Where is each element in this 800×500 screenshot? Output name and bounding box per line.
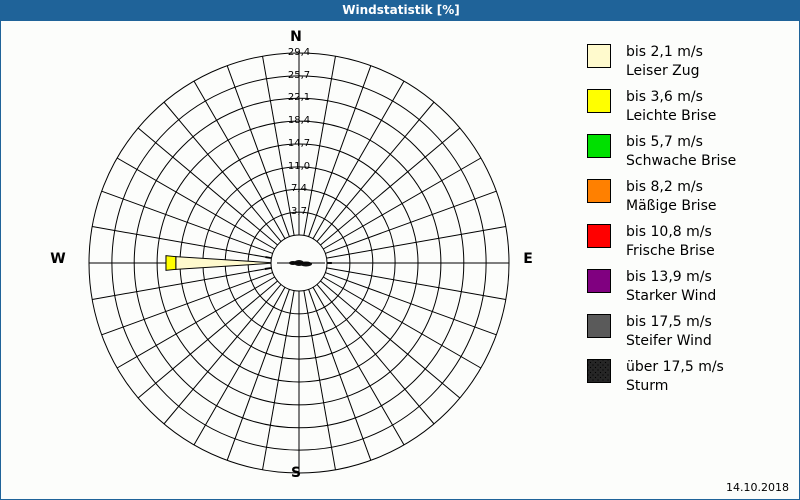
radial-tick-label: 18,4	[279, 115, 319, 126]
legend-name-label: Mäßige Brise	[626, 197, 716, 216]
legend-name-label: Steifer Wind	[626, 332, 712, 351]
radial-tick-label: 7,4	[279, 183, 319, 194]
radial-tick-label: 3,7	[279, 206, 319, 217]
windrose-calm-marker	[300, 262, 312, 267]
legend-swatch-schwache-brise	[587, 134, 611, 158]
windrose-plot: N S W E 3,77,411,014,718,422,125,729,4	[1, 21, 571, 498]
legend-item[interactable]: bis 8,2 m/sMäßige Brise	[587, 178, 797, 223]
legend-name-label: Schwache Brise	[626, 152, 736, 171]
windrose-petal-segment	[266, 257, 272, 259]
legend-swatch-frische-brise	[587, 224, 611, 248]
legend-item[interactable]: bis 13,9 m/sStarker Wind	[587, 268, 797, 313]
windrose-petal-segment	[265, 268, 271, 270]
legend-swatch-leichte-brise	[587, 89, 611, 113]
radial-tick-label: 14,7	[279, 138, 319, 149]
windstatistik-window: Windstatistik [%] N S W E 3,77,411,014,7…	[0, 0, 800, 500]
date-stamp: 14.10.2018	[726, 481, 789, 494]
legend-item[interactable]: bis 17,5 m/sSteifer Wind	[587, 313, 797, 358]
compass-label-west: W	[43, 251, 73, 267]
window-titlebar: Windstatistik [%]	[1, 0, 800, 21]
compass-label-south: S	[281, 465, 311, 481]
legend-name-label: Frische Brise	[626, 242, 715, 261]
legend-name-label: Leiser Zug	[626, 62, 703, 81]
legend-item[interactable]: bis 5,7 m/sSchwache Brise	[587, 133, 797, 178]
legend-speed-label: bis 10,8 m/s	[626, 223, 715, 242]
legend-speed-label: bis 13,9 m/s	[626, 268, 716, 287]
radial-tick-label: 22,1	[279, 92, 319, 103]
legend-item[interactable]: über 17,5 m/sSturm	[587, 358, 797, 403]
compass-label-east: E	[513, 251, 543, 267]
legend-speed-label: bis 8,2 m/s	[626, 178, 716, 197]
compass-label-north: N	[281, 29, 311, 45]
legend-item[interactable]: bis 2,1 m/sLeiser Zug	[587, 43, 797, 88]
legend-swatch-starker-wind	[587, 269, 611, 293]
window-title: Windstatistik [%]	[342, 3, 459, 17]
radial-tick-label: 25,7	[279, 70, 319, 81]
legend-swatch-steifer-wind	[587, 314, 611, 338]
legend-speed-label: bis 5,7 m/s	[626, 133, 736, 152]
legend-name-label: Starker Wind	[626, 287, 716, 306]
legend-name-label: Sturm	[626, 377, 724, 396]
legend-speed-label: über 17,5 m/s	[626, 358, 724, 377]
legend: bis 2,1 m/sLeiser Zugbis 3,6 m/sLeichte …	[573, 21, 799, 498]
legend-item[interactable]: bis 3,6 m/sLeichte Brise	[587, 88, 797, 133]
legend-swatch-sturm	[587, 359, 611, 383]
legend-swatch-maessige-brise	[587, 179, 611, 203]
legend-item[interactable]: bis 10,8 m/sFrische Brise	[587, 223, 797, 268]
legend-speed-label: bis 2,1 m/s	[626, 43, 703, 62]
windrose-petal-segment	[166, 256, 176, 271]
legend-speed-label: bis 3,6 m/s	[626, 88, 716, 107]
windrose-petal-segment	[176, 257, 271, 270]
radial-tick-label: 29,4	[279, 47, 319, 58]
legend-name-label: Leichte Brise	[626, 107, 716, 126]
radial-tick-label: 11,0	[279, 161, 319, 172]
legend-speed-label: bis 17,5 m/s	[626, 313, 712, 332]
legend-swatch-leiser-zug	[587, 44, 611, 68]
windrose-petal-segment	[327, 263, 331, 264]
chart-canvas: N S W E 3,77,411,014,718,422,125,729,4 b…	[1, 21, 799, 498]
